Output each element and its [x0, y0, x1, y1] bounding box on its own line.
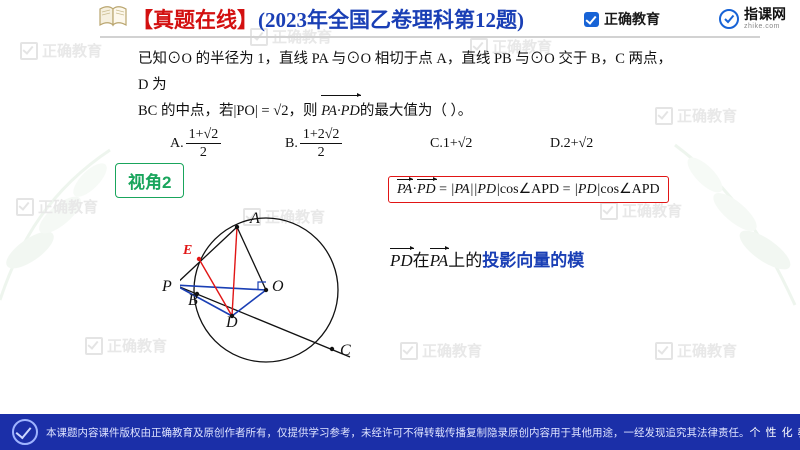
brand-zhengque-label: 正确教育: [604, 9, 660, 29]
zhike-logo-icon: [719, 9, 739, 29]
option-b-numerator: 1+2√2: [300, 126, 343, 144]
watermark-text: 正确教育: [622, 200, 682, 221]
brand-zhengque: 正确教育: [584, 9, 660, 29]
formula-cos-apd-1: cos∠APD: [500, 182, 559, 197]
page-footer: 本课题内容课件版权由正确教育及原创作者所有，仅提供学习参考，未经许可不得转载传播…: [0, 414, 800, 450]
open-book-icon: [98, 4, 128, 28]
formula-abs-pd: |PD|: [474, 182, 500, 197]
formula-abs-pd-2: |PD|: [574, 182, 600, 197]
projection-note: PD在PA上的投影向量的模: [390, 246, 584, 271]
formula-vector-pd: PD: [417, 182, 436, 198]
watermark-check-icon: [20, 42, 38, 60]
formula-box: PA·PD = |PA||PD|cos∠APD = |PD|cos∠APD: [388, 176, 669, 203]
projection-post: 上的: [448, 251, 482, 270]
geometry-figure: [180, 205, 540, 375]
segment-po: [180, 285, 266, 290]
vector-pa-pd: PA·PD: [321, 98, 360, 124]
header-divider: [100, 36, 760, 38]
watermark: 正确教育: [600, 200, 682, 221]
option-d-text: 2+√2: [564, 136, 594, 152]
zhike-domain: zhike.com: [744, 23, 786, 30]
option-c-text: 1+√2: [443, 136, 473, 152]
option-d-label: D.: [550, 136, 564, 152]
option-a-denominator: 2: [197, 144, 210, 161]
projection-highlight: 投影向量的模: [482, 251, 584, 270]
option-d[interactable]: D. 2+√2: [550, 126, 593, 161]
option-a-numerator: 1+√2: [186, 126, 222, 144]
option-b[interactable]: B. 1+2√2 2: [285, 126, 430, 161]
segment-od: [232, 290, 266, 316]
projection-vector-pa: PA: [430, 251, 449, 271]
segment-ad: [232, 227, 237, 316]
zhike-name: 指课网: [744, 7, 786, 21]
option-a[interactable]: A. 1+√2 2: [170, 126, 285, 161]
label-c: C: [340, 342, 351, 360]
watermark: 正确教育: [85, 335, 167, 356]
watermark: 正确教育: [16, 196, 98, 217]
problem-statement: 已知⊙O 的半径为 1，直线 PA 与⊙O 相切于点 A，直线 PB 与⊙O 交…: [138, 46, 678, 124]
formula-abs-pa: |PA|: [451, 182, 474, 197]
watermark-text: 正确教育: [107, 335, 167, 356]
label-p: P: [162, 278, 172, 296]
problem-line-2: BC 的中点，若|PO| = √2，则 PA·PD的最大值为（ ）。: [138, 98, 678, 124]
point-a: [235, 225, 239, 229]
option-b-label: B.: [285, 136, 298, 152]
watermark-text: 正确教育: [42, 40, 102, 61]
watermark: 正确教育: [655, 340, 737, 361]
problem-line2-post: 的最大值为（ ）。: [360, 103, 472, 119]
page-title: 【真题在线】(2023年全国乙卷理科第12题): [132, 4, 524, 34]
check-badge-icon: [584, 12, 599, 27]
projection-mid: 在: [413, 251, 430, 270]
viewpoint-tag: 视角2: [115, 163, 184, 198]
problem-line2-mid: ，则: [288, 103, 317, 119]
option-a-label: A.: [170, 136, 184, 152]
formula-equals-2: =: [563, 182, 571, 197]
watermark: 正确教育: [20, 40, 102, 61]
option-b-denominator: 2: [315, 144, 328, 161]
label-b: B: [188, 292, 198, 310]
projection-vector-pd: PD: [390, 251, 413, 271]
watermark-check-icon: [655, 342, 673, 360]
problem-line-1: 已知⊙O 的半径为 1，直线 PA 与⊙O 相切于点 A，直线 PB 与⊙O 交…: [138, 46, 678, 98]
formula-vector-pa: PA: [397, 182, 412, 198]
watermark-text: 正确教育: [677, 105, 737, 126]
watermark-text: 正确教育: [38, 196, 98, 217]
watermark-text: 正确教育: [677, 340, 737, 361]
footer-slogan: 个 性 化 教 师 研 修 平 台: [750, 424, 800, 440]
watermark-check-icon: [85, 337, 103, 355]
formula-cos-apd-2: cos∠APD: [600, 182, 659, 197]
footer-copyright: 本课题内容课件版权由正确教育及原创作者所有，仅提供学习参考，未经许可不得转载传播…: [46, 425, 750, 440]
answer-options: A. 1+√2 2 B. 1+2√2 2 C. 1+√2 D. 2+√2: [170, 126, 730, 161]
brand-zhike: 指课网 zhike.com: [719, 7, 786, 30]
option-a-fraction: 1+√2 2: [186, 126, 222, 161]
point-o: [264, 288, 268, 292]
formula-equals-1: =: [439, 182, 447, 197]
segment-ao: [237, 227, 266, 290]
point-c: [330, 347, 334, 351]
decorative-leaf-left: [0, 130, 140, 310]
watermark-check-icon: [16, 198, 34, 216]
option-c-label: C.: [430, 136, 443, 152]
footer-logo-icon: [12, 419, 38, 445]
label-e: E: [183, 243, 192, 259]
problem-line2-pre: BC 的中点，若|PO| =: [138, 103, 270, 119]
title-red-part: 【真题在线】: [132, 8, 258, 32]
title-blue-part: (2023年全国乙卷理科第12题): [258, 8, 524, 32]
option-c[interactable]: C. 1+√2: [430, 126, 550, 161]
label-d: D: [226, 314, 238, 332]
watermark-check-icon: [600, 202, 618, 220]
label-o: O: [272, 278, 284, 296]
option-b-fraction: 1+2√2 2: [300, 126, 343, 161]
point-e: [197, 257, 201, 261]
label-a: A: [250, 210, 260, 228]
line-pc: [180, 285, 350, 357]
page-header: 【真题在线】(2023年全国乙卷理科第12题) 正确教育 指课网 zhike.c…: [0, 0, 800, 36]
sqrt2-value: √2: [273, 103, 288, 119]
